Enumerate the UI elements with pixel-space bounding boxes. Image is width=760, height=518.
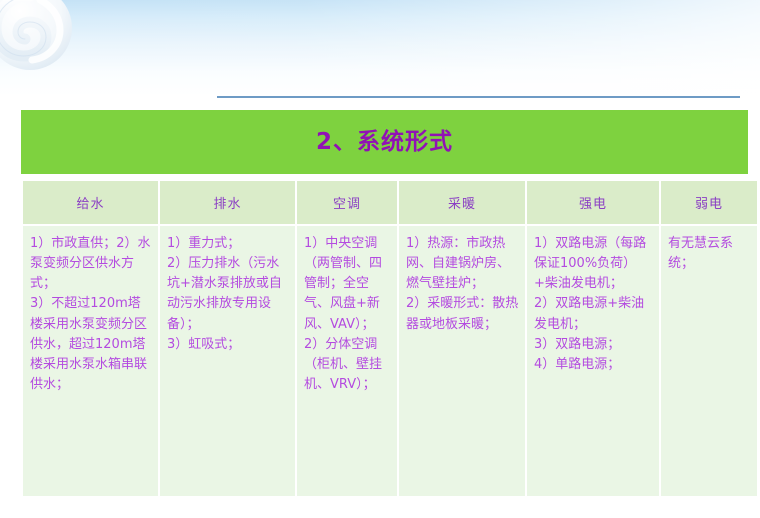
column-header-water-supply: 给水: [23, 181, 158, 224]
cell-heating: 1）热源：市政热网、自建锅炉房、燃气壁挂炉； 2）采暖形式：散热器或地板采暖；: [399, 226, 525, 496]
cell-hvac: 1）中央空调（两管制、四管制；全空气、风盘+新风、VAV）； 2）分体空调（柜机…: [297, 226, 397, 496]
table-row: 1）市政直供；2）水泵变频分区供水方式； 3）不超过120m塔楼采用水泵变频分区…: [23, 226, 757, 496]
column-header-strong-electric: 强电: [527, 181, 659, 224]
cell-weak-electric: 有无慧云系统；: [661, 226, 757, 496]
system-forms-table: 给水 排水 空调 采暖 强电 弱电 1）市政直供；2）水泵变频分区供水方式； 3…: [21, 179, 758, 498]
slide-title-bar: 2、系统形式: [21, 110, 748, 174]
table-header-row: 给水 排水 空调 采暖 强电 弱电: [23, 181, 757, 224]
top-banner-fade: [0, 0, 760, 96]
column-header-weak-electric: 弱电: [661, 181, 757, 224]
slide-canvas: 2、系统形式 给水 排水 空调 采暖 强电 弱电 1）市政直供；2）水泵变频分区…: [0, 0, 760, 518]
cell-drainage: 1）重力式； 2）压力排水（污水坑+潜水泵排放或自动污水排放专用设备）； 3）虹…: [160, 226, 295, 496]
column-header-drainage: 排水: [160, 181, 295, 224]
column-header-heating: 采暖: [399, 181, 525, 224]
cell-strong-electric: 1）双路电源（每路保证100%负荷）+柴油发电机； 2）双路电源+柴油发电机； …: [527, 226, 659, 496]
swirl-logo: [0, 0, 78, 80]
column-header-hvac: 空调: [297, 181, 397, 224]
page-title: 2、系统形式: [316, 131, 453, 154]
title-divider-rule: [217, 96, 740, 98]
cell-water-supply: 1）市政直供；2）水泵变频分区供水方式； 3）不超过120m塔楼采用水泵变频分区…: [23, 226, 158, 496]
